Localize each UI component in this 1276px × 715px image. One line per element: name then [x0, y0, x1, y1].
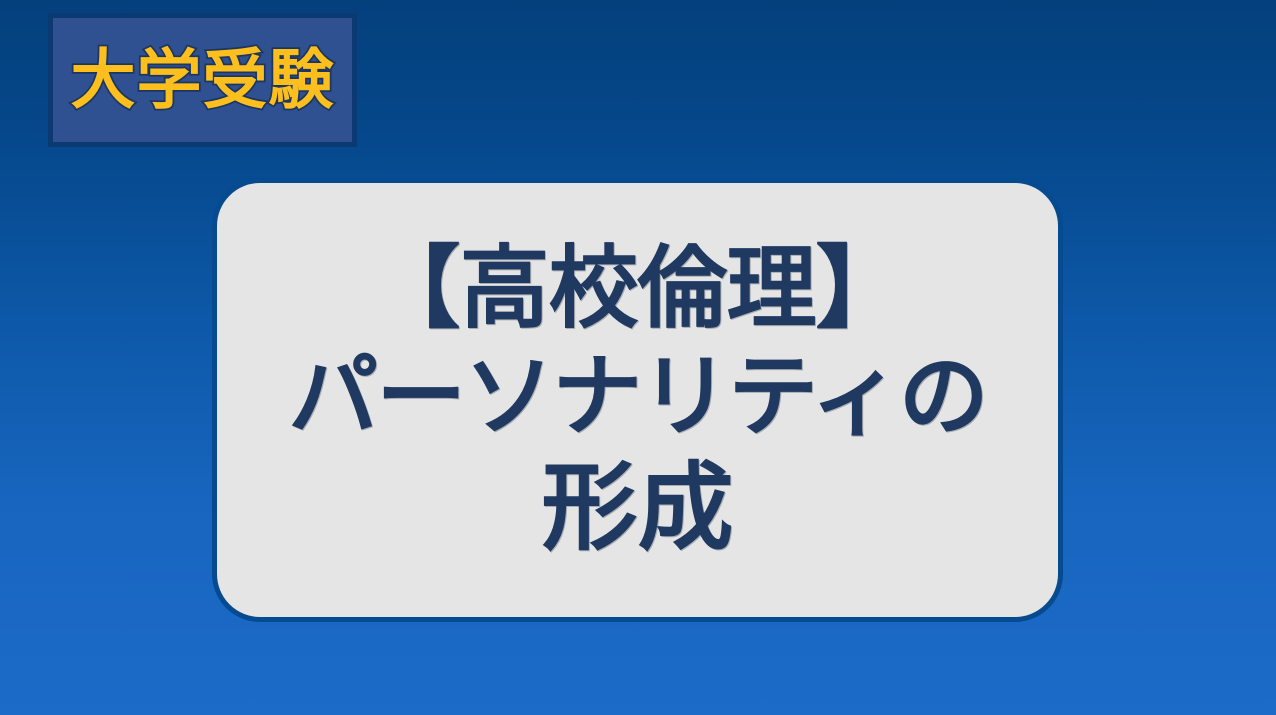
title-card: 【高校倫理】 パーソナリティの 形成 — [212, 178, 1063, 622]
title-line-topic-continued: 形成 — [542, 460, 734, 556]
title-line-topic: パーソナリティの — [288, 352, 987, 442]
category-badge-label: 大学受験 — [70, 48, 334, 113]
title-line-subject: 【高校倫理】 — [371, 244, 905, 334]
category-badge: 大学受験 — [48, 13, 357, 147]
slide-canvas: 大学受験 【高校倫理】 パーソナリティの 形成 — [0, 0, 1276, 715]
